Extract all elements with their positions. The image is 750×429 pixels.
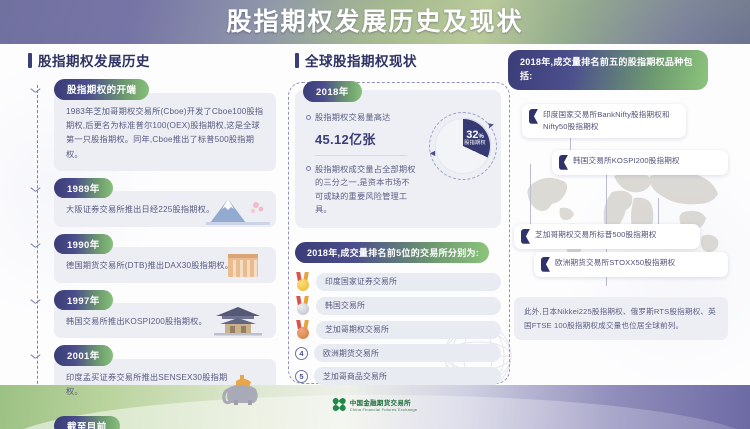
quote-mark-icon: [559, 155, 568, 170]
product-item: 欧洲期货交易所STOXX50股指期权: [534, 252, 728, 277]
timeline-item: 2001年 印度孟买证券交易所推出SENSEX30股指期权。: [54, 345, 276, 408]
timeline-item-label: 2001年: [54, 345, 113, 366]
quote-mark-icon: [541, 257, 550, 272]
rank-title: 2018年,成交量排名前5位的交易所分别为:: [295, 242, 489, 264]
organization-name: 中国金融期货交易所 China Financial Futures Exchan…: [350, 397, 418, 412]
rank-list: 印度国家证券交易所 韩国交易所 芝加哥期权交易所 4 欧洲期货交易所 5 芝加哥…: [295, 272, 501, 385]
rank-number: 5: [295, 370, 308, 383]
product-item: 芝加哥期权交易所标普500股指期权: [514, 224, 700, 249]
timeline-item-label: 1989年: [54, 178, 113, 199]
bullet-dot-icon: [306, 115, 311, 120]
history-heading-label: 股指期权发展历史: [38, 50, 150, 70]
silver-medal-icon: [295, 296, 310, 315]
timeline-item-label: 1997年: [54, 290, 113, 311]
arrow-icon: ◄: [428, 148, 437, 158]
organization-name-en: China Financial Futures Exchange: [350, 407, 418, 412]
page-header: 股指期权发展历史及现状: [0, 0, 750, 44]
rank-name: 芝加哥商品交易所: [314, 367, 501, 385]
timeline-item: 1997年 韩国交易所推出KOSPI200股指期权。: [54, 290, 276, 339]
product-item-text: 韩国交易所KOSPI200股指期权: [573, 155, 680, 167]
rank-name: 印度国家证券交易所: [316, 273, 501, 291]
history-column: 股指期权发展历史 股指期权的开端 1983年芝加哥期权交易所(Cboe)开发了C…: [28, 50, 276, 429]
rank-row: 印度国家证券交易所: [295, 272, 501, 291]
year-badge: 2018年: [303, 81, 362, 102]
quote-mark-icon: [521, 229, 530, 244]
rank-name: 韩国交易所: [316, 297, 501, 315]
timeline-dashed-line: [37, 85, 38, 429]
connector-line: [530, 164, 531, 230]
chevron-down-icon: [30, 85, 45, 98]
bullet-dot-icon: [306, 166, 311, 171]
chevron-down-icon: [30, 240, 45, 253]
timeline-item: 股指期权的开端 1983年芝加哥期权交易所(Cboe)开发了Cboe100股指期…: [54, 79, 276, 171]
rank-name: 欧洲期货交易所: [314, 344, 501, 362]
status-heading: 全球股指期权现状: [295, 50, 500, 70]
timeline-item-text: 大阪证券交易所推出日经225股指期权。: [66, 203, 238, 217]
heading-accent-bar: [295, 53, 299, 68]
heading-accent-bar: [28, 53, 32, 68]
cursor-icon: ➤: [486, 119, 496, 132]
chevron-down-icon: [30, 351, 45, 364]
quote-mark-icon: [529, 109, 538, 124]
organization-name-cn: 中国金融期货交易所: [350, 397, 418, 407]
status-column: 全球股指期权现状: [295, 50, 500, 79]
product-item-text: 印度国家交易所BankNifty股指期权和Nifty50股指期权: [543, 109, 677, 133]
status-content: 2018年 股指期权交易量高达 45.12亿张 股指期权成交量占全部期权的三分之…: [295, 90, 501, 390]
stat-bullet-label: 股指期权成交量占全部期权的三分之一,是资本市场不可或缺的重要风险管理工具。: [315, 163, 418, 217]
bronze-medal-icon: [295, 320, 310, 339]
divider: [315, 155, 407, 156]
page-title: 股指期权发展历史及现状: [0, 0, 750, 44]
infographic-page: 股指期权发展历史及现状 股指期权发展历史 股指期权的开端 1983年芝加哥期权交…: [0, 0, 750, 429]
donut-label: 32% 股指期权: [459, 129, 491, 147]
clover-icon: [333, 398, 346, 411]
rank-number: 4: [295, 347, 308, 360]
chevron-down-icon: [30, 184, 45, 197]
timeline-item: 1990年 德国期货交易所(DTB)推出DAX30股指期权。: [54, 234, 276, 283]
rank-row: 芝加哥期权交易所: [295, 320, 501, 339]
timeline-item-text: 印度孟买证券交易所推出SENSEX30股指期权。: [66, 371, 238, 400]
product-item: 印度国家交易所BankNifty股指期权和Nifty50股指期权: [522, 104, 686, 138]
products-title: 2018年,成交量排名前五的股指期权品种包括:: [508, 50, 708, 90]
products-footnote: 此外,日本Nikkei225股指期权、俄罗斯RTS股指期权、英国FTSE 100…: [514, 297, 728, 340]
chevron-down-icon: [30, 296, 45, 309]
timeline-item-label: 股指期权的开端: [54, 79, 149, 100]
products-column: 2018年,成交量排名前五的股指期权品种包括:: [508, 50, 736, 340]
timeline-item: 1989年 大阪证券交易所推出日经225股指期权。: [54, 178, 276, 227]
timeline-item-label: 1990年: [54, 234, 113, 255]
timeline-item-text: 1983年芝加哥期权交易所(Cboe)开发了Cboe100股指期权,后更名为标准…: [66, 105, 266, 162]
timeline-item-label: 截至目前: [54, 416, 120, 429]
timeline-item-text: 德国期货交易所(DTB)推出DAX30股指期权。: [66, 259, 238, 273]
donut-series-name: 股指期权: [459, 141, 491, 147]
rank-row: 4 欧洲期货交易所: [295, 344, 501, 362]
rank-row: 5 芝加哥商品交易所: [295, 367, 501, 385]
rank-row: 韩国交易所: [295, 296, 501, 315]
history-heading: 股指期权发展历史: [28, 50, 276, 70]
gold-medal-icon: [295, 272, 310, 291]
stat-bullet-label: 股指期权交易量高达: [315, 111, 418, 125]
share-donut-chart: 32% 股指期权 ➤ ◄: [429, 112, 497, 180]
product-item-text: 芝加哥期权交易所标普500股指期权: [535, 229, 657, 241]
year-stat-card: 2018年 股指期权交易量高达 45.12亿张 股指期权成交量占全部期权的三分之…: [295, 90, 501, 228]
organization-logo: 中国金融期货交易所 China Financial Futures Exchan…: [333, 397, 418, 412]
product-item-text: 欧洲期货交易所STOXX50股指期权: [555, 257, 675, 269]
timeline-item-card: 1983年芝加哥期权交易所(Cboe)开发了Cboe100股指期权,后更名为标准…: [54, 93, 276, 171]
timeline: 股指期权的开端 1983年芝加哥期权交易所(Cboe)开发了Cboe100股指期…: [28, 79, 276, 429]
timeline-item-text: 韩国交易所推出KOSPI200股指期权。: [66, 315, 238, 329]
status-heading-label: 全球股指期权现状: [305, 50, 417, 70]
product-item: 韩国交易所KOSPI200股指期权: [552, 150, 728, 175]
products-body: 印度国家交易所BankNifty股指期权和Nifty50股指期权 韩国交易所KO…: [508, 100, 736, 340]
rank-name: 芝加哥期权交易所: [316, 321, 501, 339]
